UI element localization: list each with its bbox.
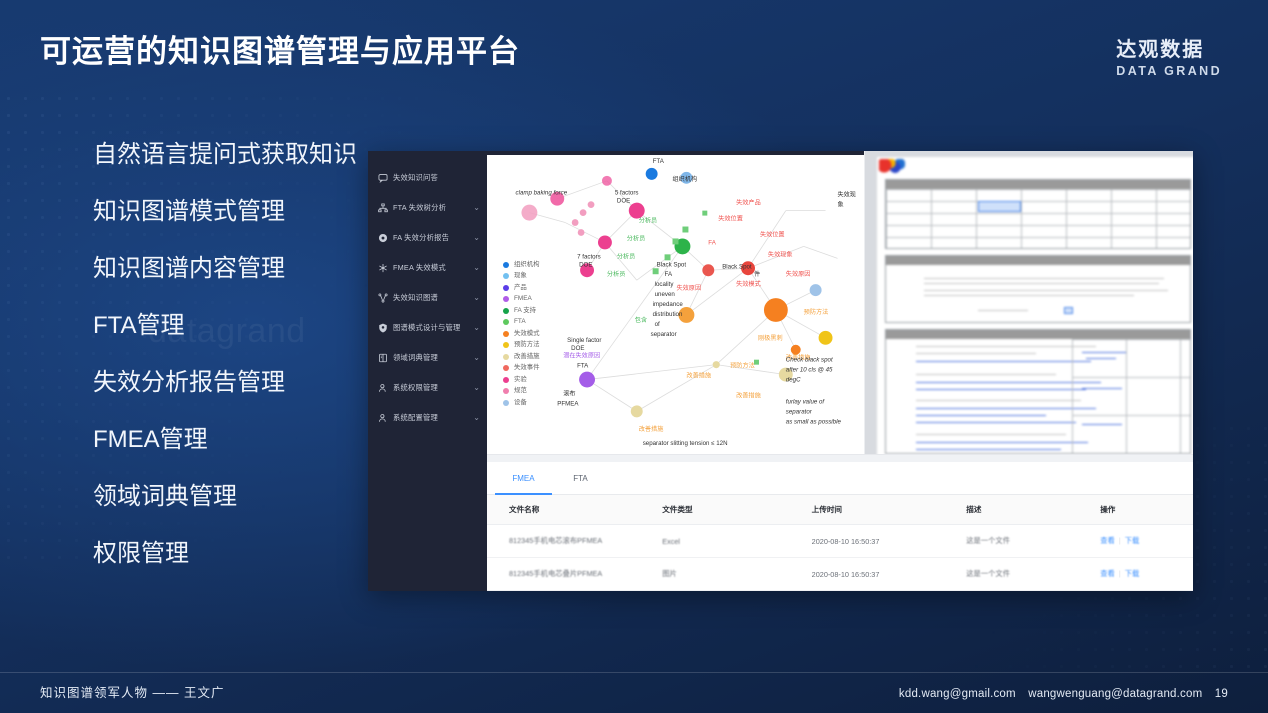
cell-actions: 查看|下载 (1100, 525, 1193, 558)
doc-text-line-blue (916, 361, 1091, 362)
graph-legend: 组织机构 现象 产品 FMEA FA 支持 FTA 失效模式 预防方法 改善措施… (503, 259, 540, 409)
feature-item: FMEA管理 (93, 428, 368, 452)
footer-divider (0, 672, 1268, 673)
legend-label: FA 支持 (514, 308, 536, 314)
legend-color-swatch (503, 296, 509, 302)
legend-color-swatch (503, 308, 509, 314)
legend-label: 改善措施 (514, 354, 540, 360)
svg-text:失效现象: 失效现象 (768, 250, 793, 258)
table-head: 文件名称 文件类型 上传时间 描述 操作 (487, 495, 1193, 525)
svg-text:改善措施: 改善措施 (639, 425, 664, 433)
legend-color-swatch (503, 400, 509, 406)
svg-text:uneven: uneven (655, 291, 676, 298)
svg-text:预防方法: 预防方法 (804, 308, 829, 316)
svg-text:改善措施: 改善措施 (736, 391, 761, 399)
svg-text:失效位置: 失效位置 (718, 215, 743, 223)
tab-bar: FMEA FTA (487, 462, 1193, 495)
legend-item: 预防方法 (503, 340, 540, 352)
sidebar-item-label: FA 失效分析报告 (393, 233, 471, 243)
cell-uploadtime: 2020-08-10 16:50:37 (812, 525, 967, 558)
legend-color-swatch (503, 365, 509, 371)
download-link[interactable]: 下载 (1125, 536, 1140, 545)
column-header-uploadtime: 上传时间 (812, 495, 967, 525)
legend-item: FMEA (503, 294, 540, 306)
svg-text:分析员: 分析员 (639, 217, 657, 225)
legend-label: 失效事件 (514, 365, 540, 371)
tab-fmea[interactable]: FMEA (495, 462, 552, 494)
sidebar-item-knowledge-graph[interactable]: 失效知识图谱 ⌄ (368, 283, 487, 313)
cell-actions: 查看|下载 (1100, 558, 1193, 591)
sidebar-item-qa[interactable]: 失效知识问答 (368, 163, 487, 193)
chevron-down-icon: ⌄ (471, 204, 480, 212)
doc-text-line-blue (1082, 424, 1122, 425)
book-icon (377, 353, 388, 364)
table-header-row: 文件名称 文件类型 上传时间 描述 操作 (487, 495, 1193, 525)
doc-table-header (886, 256, 1190, 265)
legend-color-swatch (503, 377, 509, 383)
legend-label: FTA (514, 319, 526, 325)
company-logo-icon (879, 159, 905, 173)
legend-color-swatch (503, 262, 509, 268)
chevron-down-icon: ⌄ (471, 234, 480, 242)
doc-text-line (916, 346, 1096, 347)
svg-text:separator: separator (651, 331, 677, 338)
doc-text-line (924, 283, 1159, 284)
svg-text:失效原因: 失效原因 (676, 284, 701, 292)
doc-text-line-blue (916, 408, 1096, 409)
doc-text-line-blue (1082, 352, 1126, 353)
svg-text:包含: 包含 (635, 316, 647, 324)
file-table-element: 文件名称 文件类型 上传时间 描述 操作 812345手机电芯滚布PFMEA E… (487, 495, 1193, 591)
knowledge-graph-panel[interactable]: clamp baking force 5 factors DOE 7 facto… (487, 151, 865, 454)
svg-text:潜在失效原因: 潜在失效原因 (563, 352, 600, 360)
view-link[interactable]: 查看 (1100, 569, 1115, 578)
sidebar-item-label: FMEA 失效模式 (393, 263, 471, 273)
svg-text:失效现: 失效现 (837, 191, 855, 199)
legend-item: 实验 (503, 374, 540, 386)
legend-color-swatch (503, 354, 509, 360)
feature-item: 权限管理 (93, 542, 368, 566)
svg-text:件: 件 (754, 270, 760, 278)
app-sidebar: 失效知识问答 FTA 失效树分析 ⌄ FA 失效分析报告 ⌄ (368, 151, 487, 591)
chevron-down-icon: ⌄ (471, 384, 480, 392)
download-link[interactable]: 下载 (1125, 569, 1140, 578)
svg-text:FTA: FTA (577, 363, 589, 370)
svg-text:失效位置: 失效位置 (760, 230, 785, 238)
svg-text:FA: FA (665, 271, 673, 278)
table-row[interactable]: 812345手机电芯叠片PFMEA 图片 2020-08-10 16:50:37… (487, 558, 1193, 591)
legend-color-swatch (503, 388, 509, 394)
legend-color-swatch (503, 273, 509, 279)
svg-text:as small as possible: as small as possible (786, 418, 842, 425)
legend-item: 改善措施 (503, 351, 540, 363)
doc-text-line (924, 290, 1168, 291)
legend-item: 现象 (503, 271, 540, 283)
svg-text:DOE: DOE (579, 261, 592, 268)
feature-list: 自然语言提问式获取知识 知识图谱模式管理 知识图谱内容管理 FTA管理 失效分析… (93, 143, 368, 599)
cell-filename: 812345手机电芯叠片PFMEA (487, 558, 662, 591)
svg-text:分析员: 分析员 (607, 270, 625, 278)
legend-color-swatch (503, 285, 509, 291)
feature-item: 失效分析报告管理 (93, 371, 368, 395)
svg-text:Black Spot: Black Spot (722, 263, 752, 270)
legend-item: 规范 (503, 386, 540, 398)
svg-text:DOE: DOE (617, 198, 630, 205)
doc-text-line (924, 278, 1164, 279)
tree-icon (377, 203, 388, 214)
svg-text:separator: separator (786, 408, 813, 415)
graph-icon (377, 293, 388, 304)
app-main-area: clamp baking force 5 factors DOE 7 facto… (487, 151, 1193, 591)
feature-item: 知识图谱内容管理 (93, 257, 368, 281)
svg-text:Black Spot: Black Spot (657, 261, 687, 268)
doc-text-line-blue (916, 415, 1046, 416)
svg-text:分析员: 分析员 (627, 234, 645, 242)
legend-label: FMEA (514, 296, 532, 302)
sidebar-item-label: 失效知识问答 (393, 173, 471, 183)
shield-icon (377, 323, 388, 334)
svg-text:of: of (655, 321, 660, 328)
column-header-actions: 操作 (1100, 495, 1193, 525)
svg-text:impedance: impedance (653, 301, 684, 308)
cell-description: 这是一个文件 (966, 558, 1100, 591)
user-icon (377, 383, 388, 394)
brand-name-cn: 达观数据 (1116, 38, 1222, 62)
sidebar-item-dictionary[interactable]: 领域词典管理 ⌄ (368, 343, 487, 373)
legend-item: 设备 (503, 397, 540, 409)
legend-item: 失效模式 (503, 328, 540, 340)
svg-text:FA: FA (708, 239, 716, 246)
doc-text-line-blue (916, 422, 1076, 423)
doc-text-line-blue (1086, 358, 1116, 359)
user-icon (377, 413, 388, 424)
legend-label: 现象 (514, 273, 527, 279)
viewer-row: clamp baking force 5 factors DOE 7 facto… (487, 151, 1193, 455)
svg-text:滚布: 滚布 (563, 389, 575, 397)
svg-text:Check black spot: Check black spot (786, 357, 833, 364)
column-header-filetype: 文件类型 (662, 495, 811, 525)
doc-text-line-blue (916, 442, 1088, 443)
doc-text-line-blue (916, 389, 1086, 390)
cell-filename: 812345手机电芯滚布PFMEA (487, 525, 662, 558)
legend-item: 组织机构 (503, 259, 540, 271)
legend-label: 实验 (514, 377, 527, 383)
report-icon (377, 233, 388, 244)
legend-item: FA 支持 (503, 305, 540, 317)
sidebar-item-fa-report[interactable]: FA 失效分析报告 ⌄ (368, 223, 487, 253)
tab-fta[interactable]: FTA (552, 462, 609, 494)
chat-icon (377, 173, 388, 184)
chevron-down-icon: ⌄ (471, 324, 480, 332)
doc-text-line (916, 434, 1066, 435)
svg-text:PFMEA: PFMEA (557, 400, 579, 407)
doc-table-3 (885, 329, 1191, 454)
svg-text:刚极黑刺: 刚极黑刺 (758, 334, 783, 342)
legend-item: FTA (503, 317, 540, 329)
view-link[interactable]: 查看 (1100, 536, 1115, 545)
svg-text:分析员: 分析员 (617, 252, 635, 260)
column-header-description: 描述 (966, 495, 1100, 525)
asterisk-icon (377, 263, 388, 274)
cell-filetype: 图片 (662, 558, 811, 591)
legend-label: 产品 (514, 285, 527, 291)
footer-email-2: wangwenguang@datagrand.com (1028, 688, 1202, 700)
svg-text:5 factors: 5 factors (615, 190, 639, 197)
svg-text:7 factors: 7 factors (577, 253, 601, 260)
svg-text:预防方法: 预防方法 (730, 362, 755, 370)
svg-text:FTA: FTA (653, 158, 665, 165)
svg-text:separator slitting tension ≤ 1: separator slitting tension ≤ 12N (643, 440, 728, 447)
file-table: 文件名称 文件类型 上传时间 描述 操作 812345手机电芯滚布PFMEA E… (487, 495, 1193, 591)
brand-name-en: DATA GRAND (1116, 64, 1222, 78)
document-preview-panel[interactable] (865, 151, 1193, 454)
legend-label: 组织机构 (514, 262, 540, 268)
sidebar-item-label: 系统权限管理 (393, 383, 471, 393)
footer-contact: kdd.wang@gmail.com wangwenguang@datagran… (890, 688, 1228, 700)
legend-label: 预防方法 (514, 342, 540, 348)
svg-text:degC: degC (786, 377, 801, 384)
svg-text:DOE: DOE (571, 345, 584, 352)
svg-text:clamp baking force: clamp baking force (516, 190, 568, 197)
doc-checkbox (1064, 307, 1073, 314)
app-screenshot-window: 失效知识问答 FTA 失效树分析 ⌄ FA 失效分析报告 ⌄ (368, 151, 1193, 591)
document-page (877, 157, 1193, 454)
chevron-down-icon: ⌄ (471, 414, 480, 422)
doc-selected-cell (978, 201, 1021, 212)
column-header-filename: 文件名称 (487, 495, 662, 525)
feature-item: 知识图谱模式管理 (93, 200, 368, 224)
feature-item: FTA管理 (93, 314, 368, 338)
feature-item: 领域词典管理 (93, 485, 368, 509)
sidebar-item-permissions[interactable]: 系统权限管理 ⌄ (368, 373, 487, 403)
cell-description: 这是一个文件 (966, 525, 1100, 558)
sidebar-item-label: 系统配置管理 (393, 413, 471, 423)
sidebar-item-fmea[interactable]: FMEA 失效模式 ⌄ (368, 253, 487, 283)
svg-text:改善措施: 改善措施 (686, 372, 711, 380)
knowledge-graph-canvas[interactable]: clamp baking force 5 factors DOE 7 facto… (487, 151, 864, 454)
footer-email-1: kdd.wang@gmail.com (899, 688, 1016, 700)
doc-text-line-blue (1082, 388, 1122, 389)
sidebar-item-label: 失效知识图谱 (393, 293, 471, 303)
cell-filetype: Excel (662, 525, 811, 558)
svg-text:失效产品: 失效产品 (736, 199, 761, 207)
action-separator: | (1119, 569, 1121, 578)
doc-table-header (886, 330, 1190, 339)
legend-label: 规范 (514, 388, 527, 394)
footer-page-number: 19 (1215, 688, 1228, 700)
sidebar-item-system-config[interactable]: 系统配置管理 ⌄ (368, 403, 487, 433)
brand-logo: 达观数据 DATA GRAND (1116, 38, 1222, 78)
svg-text:locality: locality (655, 281, 675, 288)
svg-text:Single factor: Single factor (567, 337, 601, 344)
sidebar-item-label: 领域词典管理 (393, 353, 471, 363)
sidebar-item-label: FTA 失效树分析 (393, 203, 471, 213)
doc-text-line-blue (916, 449, 1061, 450)
legend-item: 产品 (503, 282, 540, 294)
table-body: 812345手机电芯滚布PFMEA Excel 2020-08-10 16:50… (487, 525, 1193, 591)
doc-text-line (916, 400, 1081, 401)
svg-text:组织机构: 组织机构 (673, 175, 698, 183)
legend-color-swatch (503, 319, 509, 325)
doc-cell-grid (1072, 339, 1190, 453)
sidebar-item-fta[interactable]: FTA 失效树分析 ⌄ (368, 193, 487, 223)
doc-text-line (924, 295, 1134, 296)
svg-text:distribution: distribution (653, 311, 683, 318)
svg-text:象: 象 (837, 201, 843, 209)
footer-author: 知识图谱领军人物 —— 王文广 (40, 682, 224, 701)
sidebar-item-schema-design[interactable]: 图谱模式设计与管理 ⌄ (368, 313, 487, 343)
doc-table-header (886, 180, 1190, 189)
doc-table-1 (885, 179, 1191, 249)
page-title: 可运营的知识图谱管理与应用平台 (40, 26, 520, 71)
doc-text-line (916, 374, 1056, 375)
svg-text:after 10 cls @ 45: after 10 cls @ 45 (786, 367, 833, 374)
doc-text-line (978, 310, 1028, 311)
feature-item: 自然语言提问式获取知识 (93, 143, 368, 167)
chevron-down-icon: ⌄ (471, 354, 480, 362)
action-separator: | (1119, 536, 1121, 545)
legend-color-swatch (503, 331, 509, 337)
legend-label: 设备 (514, 400, 527, 406)
svg-text:失效原因: 失效原因 (786, 270, 811, 278)
chevron-down-icon: ⌄ (471, 264, 480, 272)
svg-text:furlay value of: furlay value of (786, 398, 826, 405)
sidebar-item-label: 图谱模式设计与管理 (393, 323, 471, 333)
doc-table-2 (885, 255, 1191, 323)
legend-label: 失效模式 (514, 331, 540, 337)
cell-uploadtime: 2020-08-10 16:50:37 (812, 558, 967, 591)
table-row[interactable]: 812345手机电芯滚布PFMEA Excel 2020-08-10 16:50… (487, 525, 1193, 558)
legend-item: 失效事件 (503, 363, 540, 375)
chevron-down-icon: ⌄ (471, 294, 480, 302)
doc-text-line (916, 353, 1036, 354)
doc-cell-grid (886, 189, 1190, 248)
legend-color-swatch (503, 342, 509, 348)
svg-text:失效模式: 失效模式 (736, 280, 761, 288)
